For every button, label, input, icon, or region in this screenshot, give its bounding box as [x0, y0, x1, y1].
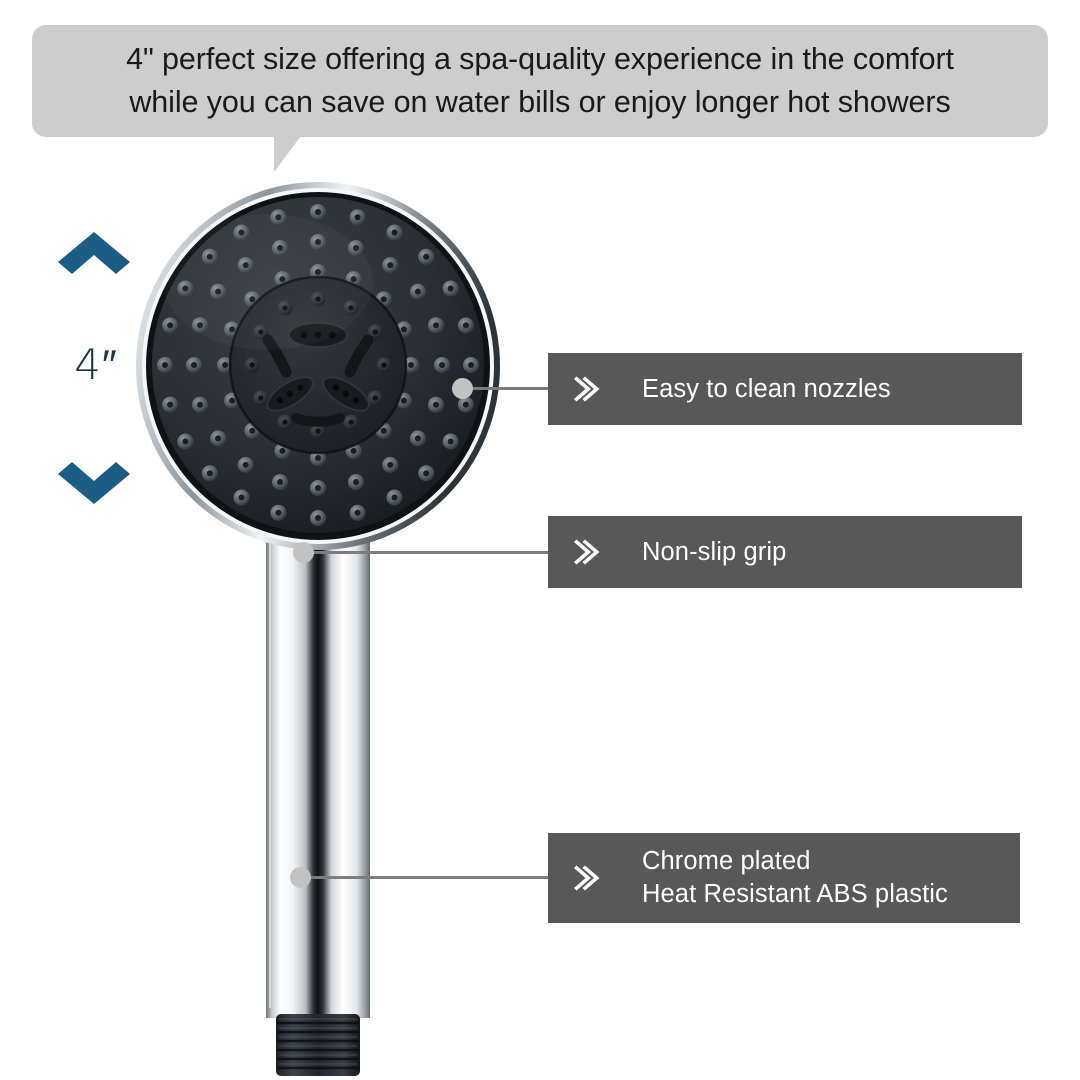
hose-connector — [276, 1014, 360, 1076]
shower-head-illustration — [118, 172, 518, 1080]
double-chevron-right-icon — [570, 535, 604, 569]
leader-dot-material — [290, 867, 311, 888]
leader-dot-nozzles — [452, 378, 473, 399]
feature-callout-grip: Non-slip grip — [548, 516, 1022, 588]
headline-line-1: 4" perfect size offering a spa-quality e… — [126, 39, 954, 80]
leader-line-3 — [300, 876, 550, 879]
infographic-canvas: 4" perfect size offering a spa-quality e… — [0, 0, 1080, 1080]
leader-line-2 — [303, 551, 551, 554]
feature-label-material: Chrome plated Heat Resistant ABS plastic — [642, 845, 948, 911]
double-chevron-right-icon — [570, 861, 604, 895]
speech-bubble-tail — [274, 136, 301, 172]
leader-line-1 — [462, 387, 550, 390]
spray-face — [136, 182, 500, 550]
feature-label-nozzles: Easy to clean nozzles — [642, 373, 891, 406]
feature-callout-nozzles: Easy to clean nozzles — [548, 353, 1022, 425]
headline-line-2: while you can save on water bills or enj… — [129, 82, 950, 123]
feature-callout-material: Chrome plated Heat Resistant ABS plastic — [548, 833, 1020, 923]
feature-label-grip: Non-slip grip — [642, 536, 786, 569]
leader-dot-grip — [293, 542, 314, 563]
double-chevron-right-icon — [570, 372, 604, 406]
headline-speech-bubble: 4" perfect size offering a spa-quality e… — [32, 25, 1048, 137]
